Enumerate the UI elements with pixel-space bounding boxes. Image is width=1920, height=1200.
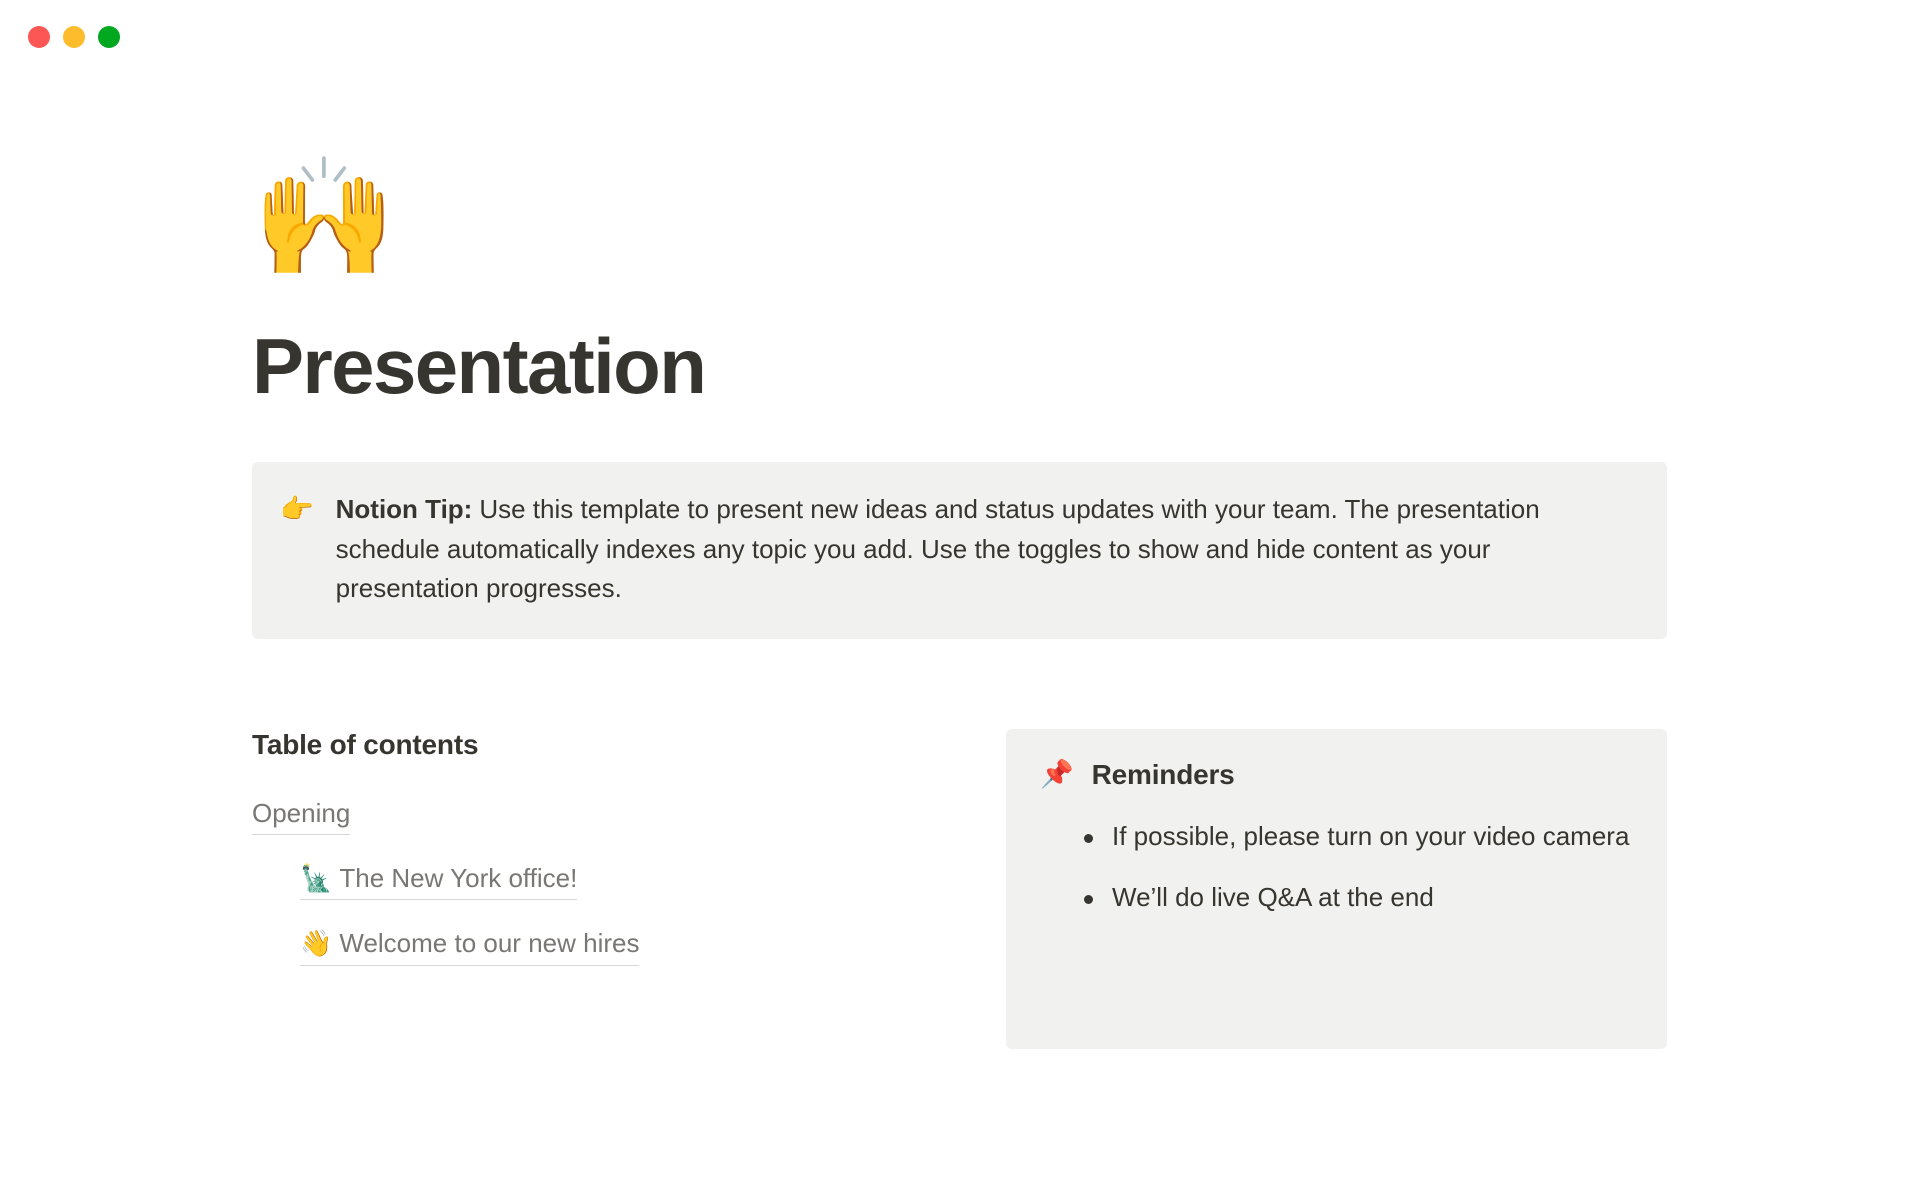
reminders-title: Reminders: [1092, 759, 1235, 791]
reminders-list: If possible, please turn on your video c…: [1040, 817, 1633, 918]
toc-item-label: Opening: [252, 798, 350, 828]
window-titlebar: [0, 0, 1920, 62]
close-window-button[interactable]: [28, 26, 50, 48]
toc-item-the-new-york-office[interactable]: 🗽The New York office!: [300, 861, 577, 901]
minimize-window-button[interactable]: [63, 26, 85, 48]
window-traffic-lights: [28, 26, 120, 48]
reminders-column: 📌 Reminders If possible, please turn on …: [1006, 729, 1667, 1049]
toc-item-label: Welcome to our new hires: [339, 928, 639, 958]
toc-item-welcome-to-our-new-hires[interactable]: 👋Welcome to our new hires: [300, 926, 639, 966]
raising-hands-icon[interactable]: 🙌: [252, 160, 1667, 300]
page-columns: Table of contents Opening 🗽The New York …: [252, 729, 1667, 1049]
notion-page-canvas[interactable]: 🙌 Presentation 👉 Notion Tip:Use this tem…: [0, 62, 1920, 1200]
list-item[interactable]: We’ll do live Q&A at the end: [1076, 878, 1633, 918]
notion-tip-callout-text: Notion Tip:Use this template to present …: [336, 490, 1633, 609]
toc-item-opening[interactable]: Opening: [252, 796, 350, 835]
table-of-contents-heading: Table of contents: [252, 729, 952, 761]
waving-hand-icon: 👋: [300, 929, 332, 959]
statue-of-liberty-icon: 🗽: [300, 864, 332, 894]
table-of-contents-list: Opening 🗽The New York office! 👋Welcome t…: [252, 796, 952, 966]
page-content: 🙌 Presentation 👉 Notion Tip:Use this tem…: [252, 160, 1667, 1049]
notion-tip-body: Use this template to present new ideas a…: [336, 494, 1540, 603]
page-title[interactable]: Presentation: [252, 324, 1667, 408]
reminders-header: 📌 Reminders: [1040, 759, 1633, 791]
pointing-right-icon: 👉: [280, 490, 314, 530]
toc-item-label: The New York office!: [339, 863, 577, 893]
table-of-contents-column: Table of contents Opening 🗽The New York …: [252, 729, 952, 992]
reminders-callout[interactable]: 📌 Reminders If possible, please turn on …: [1006, 729, 1667, 1049]
maximize-window-button[interactable]: [98, 26, 120, 48]
list-item[interactable]: If possible, please turn on your video c…: [1076, 817, 1633, 857]
notion-tip-callout[interactable]: 👉 Notion Tip:Use this template to presen…: [252, 462, 1667, 639]
notion-tip-label: Notion Tip:: [336, 494, 473, 524]
pushpin-icon: 📌: [1040, 761, 1074, 788]
